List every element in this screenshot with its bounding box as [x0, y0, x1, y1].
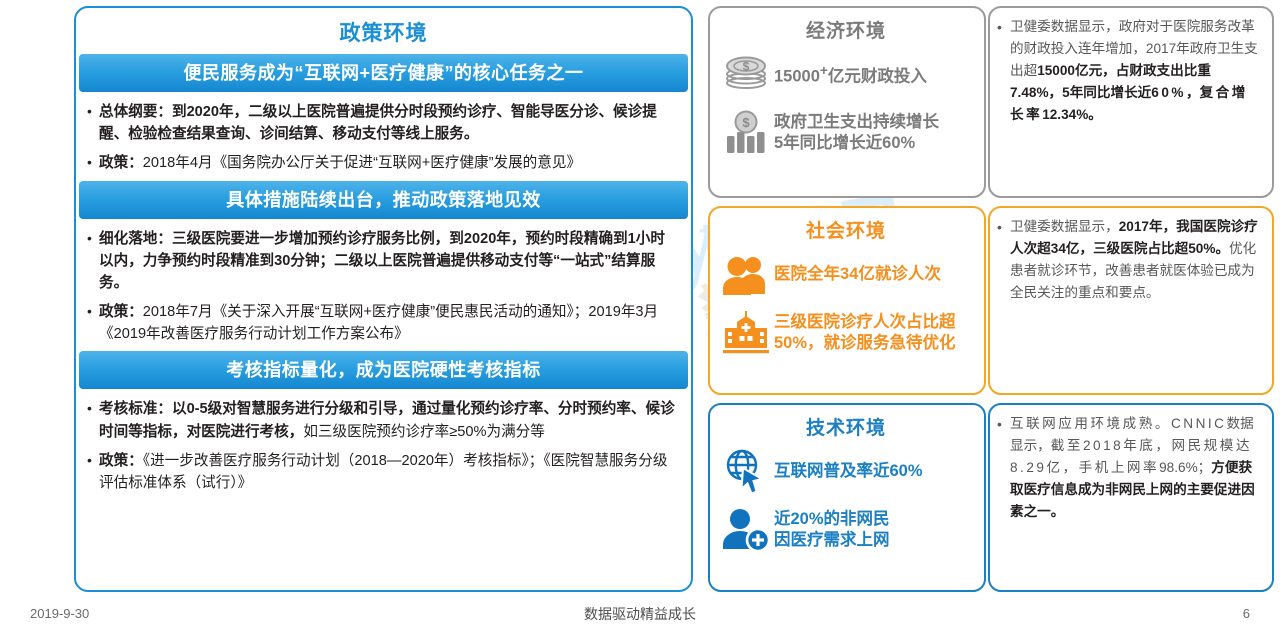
bullet-dot-icon: •: [997, 16, 1010, 39]
society-note-box: • 卫健委数据显示，2017年，我国医院诊疗人次超34亿，三级医院占比超50%。…: [988, 206, 1274, 395]
coin-stack-icon: $: [718, 49, 774, 101]
economy-card-inner: 经济环境 $ 15000+亿元财政投入: [710, 8, 984, 196]
hospital-building-icon: [718, 307, 774, 359]
policy-bullet: • 总体纲要：到2020年，二级以上医院普遍提供分时段预约诊疗、智能导医分诊、候…: [87, 101, 678, 145]
economy-note-text: 卫健委数据显示，政府对于医院服务改革的财政投入连年增加，2017年政府卫生支出超…: [1010, 16, 1262, 126]
technology-note-box: • 互联网应用环境成熟。CNNIC数据显示，截至2018年底，网民规模达8.29…: [988, 403, 1274, 592]
globe-cursor-icon: [718, 446, 774, 498]
policy-environment-panel: 政策环境 便民服务成为“互联网+医疗健康”的核心任务之一 • 总体纲要：到202…: [74, 6, 693, 592]
bullet-dot-icon: •: [87, 301, 99, 322]
society-note-text: 卫健委数据显示，2017年，我国医院诊疗人次超34亿，三级医院占比超50%。优化…: [1010, 216, 1262, 304]
policy-bullet: • 政策：《进一步改善医疗服务行动计划（2018—2020年）考核指标》；《医院…: [87, 450, 678, 494]
policy-section-3-body: • 考核标准：以0-5级对智慧服务进行分级和引导，通过量化预约诊疗率、分时预约率…: [76, 389, 691, 500]
footer-slogan: 数据驱动精益成长: [0, 604, 1280, 624]
technology-row-2-text: 近20%的非网民因医疗需求上网: [774, 509, 974, 551]
technology-card-inner: 技术环境 互联网普及率近60%: [710, 405, 984, 590]
policy-section-2-body: • 细化落地：三级医院要进一步增加预约诊疗服务比例，到2020年，预约时段精确到…: [76, 219, 691, 352]
economy-card-title: 经济环境: [718, 16, 974, 43]
bullet-dot-icon: •: [87, 450, 99, 471]
policy-section-2-header: 具体措施陆续出台，推动政策落地见效: [79, 181, 688, 219]
society-row-1: 医院全年34亿就诊人次: [718, 249, 974, 301]
policy-bullet: • 考核标准：以0-5级对智慧服务进行分级和引导，通过量化预约诊疗率、分时预约率…: [87, 398, 678, 442]
bullet-dot-icon: •: [87, 101, 99, 122]
bar-chart-coin-icon: $: [718, 107, 774, 159]
policy-bullet-text: 考核标准：以0-5级对智慧服务进行分级和引导，通过量化预约诊疗率、分时预约率、候…: [99, 398, 678, 442]
society-row-1-text: 医院全年34亿就诊人次: [774, 264, 974, 285]
bullet-dot-icon: •: [997, 413, 1010, 436]
economy-row-1-text: 15000+亿元财政投入: [774, 62, 974, 88]
society-row-2: 三级医院诊疗人次占比超50%，就诊服务急待优化: [718, 307, 974, 359]
economy-row-1: $ 15000+亿元财政投入: [718, 49, 974, 101]
bullet-dot-icon: •: [87, 228, 99, 249]
policy-bullet-text: 总体纲要：到2020年，二级以上医院普遍提供分时段预约诊疗、智能导医分诊、候诊提…: [99, 101, 678, 145]
technology-row-2: 近20%的非网民因医疗需求上网: [718, 504, 974, 556]
policy-bullet-text: 细化落地：三级医院要进一步增加预约诊疗服务比例，到2020年，预约时段精确到1小…: [99, 228, 678, 295]
policy-bullet-text: 政策：《进一步改善医疗服务行动计划（2018—2020年）考核指标》；《医院智慧…: [99, 450, 678, 494]
policy-panel-title: 政策环境: [76, 8, 691, 54]
bullet-dot-icon: •: [87, 398, 99, 419]
society-environment-card: 社会环境 医院全年34亿就诊人次: [708, 206, 986, 395]
policy-bullet-text: 政策：2018年4月《国务院办公厅关于促进“互联网+医疗健康”发展的意见》: [99, 152, 678, 174]
economy-note-box: • 卫健委数据显示，政府对于医院服务改革的财政投入连年增加，2017年政府卫生支…: [988, 6, 1274, 198]
technology-note-text: 互联网应用环境成熟。CNNIC数据显示，截至2018年底，网民规模达8.29亿，…: [1010, 413, 1262, 523]
bullet-dot-icon: •: [87, 152, 99, 173]
policy-section-3-header: 考核指标量化，成为医院硬性考核指标: [79, 351, 688, 389]
policy-bullet: • 政策：2018年7月《关于深入开展“互联网+医疗健康”便民惠民活动的通知》；…: [87, 301, 678, 345]
society-card-inner: 社会环境 医院全年34亿就诊人次: [710, 208, 984, 393]
policy-section-2: 具体措施陆续出台，推动政策落地见效 • 细化落地：三级医院要进一步增加预约诊疗服…: [76, 181, 691, 352]
technology-note-inner: • 互联网应用环境成熟。CNNIC数据显示，截至2018年底，网民规模达8.29…: [990, 405, 1272, 590]
economy-environment-card: 经济环境 $ 15000+亿元财政投入: [708, 6, 986, 198]
policy-section-1-header: 便民服务成为“互联网+医疗健康”的核心任务之一: [79, 54, 688, 92]
policy-bullet: • 政策：2018年4月《国务院办公厅关于促进“互联网+医疗健康”发展的意见》: [87, 152, 678, 174]
policy-section-1-body: • 总体纲要：到2020年，二级以上医院普遍提供分时段预约诊疗、智能导医分诊、候…: [76, 92, 691, 181]
two-people-icon: [718, 249, 774, 301]
policy-bullet-text: 政策：2018年7月《关于深入开展“互联网+医疗健康”便民惠民活动的通知》；20…: [99, 301, 678, 345]
policy-bullet: • 细化落地：三级医院要进一步增加预约诊疗服务比例，到2020年，预约时段精确到…: [87, 228, 678, 295]
technology-row-1: 互联网普及率近60%: [718, 446, 974, 498]
society-note-inner: • 卫健委数据显示，2017年，我国医院诊疗人次超34亿，三级医院占比超50%。…: [990, 208, 1272, 393]
economy-note-inner: • 卫健委数据显示，政府对于医院服务改革的财政投入连年增加，2017年政府卫生支…: [990, 8, 1272, 196]
svg-text:$: $: [743, 60, 750, 74]
technology-row-1-text: 互联网普及率近60%: [774, 461, 974, 482]
slide-footer: 2019-9-30 数据驱动精益成长 6: [0, 595, 1280, 639]
economy-row-2-text: 政府卫生支出持续增长5年同比增长近60%: [774, 112, 974, 154]
svg-text:$: $: [742, 115, 750, 130]
person-plus-icon: [718, 504, 774, 556]
slide-canvas: 政策环境 便民服务成为“互联网+医疗健康”的核心任务之一 • 总体纲要：到202…: [0, 0, 1280, 639]
technology-environment-card: 技术环境 互联网普及率近60%: [708, 403, 986, 592]
policy-section-1: 便民服务成为“互联网+医疗健康”的核心任务之一 • 总体纲要：到2020年，二级…: [76, 54, 691, 181]
society-card-title: 社会环境: [718, 216, 974, 243]
footer-page-number: 6: [1243, 606, 1250, 621]
society-row-2-text: 三级医院诊疗人次占比超50%，就诊服务急待优化: [774, 312, 974, 354]
economy-row-2: $ 政府卫生支出持续增长5年同比增长近60%: [718, 107, 974, 159]
bullet-dot-icon: •: [997, 216, 1010, 239]
policy-section-3: 考核指标量化，成为医院硬性考核指标 • 考核标准：以0-5级对智慧服务进行分级和…: [76, 351, 691, 500]
technology-card-title: 技术环境: [718, 413, 974, 440]
